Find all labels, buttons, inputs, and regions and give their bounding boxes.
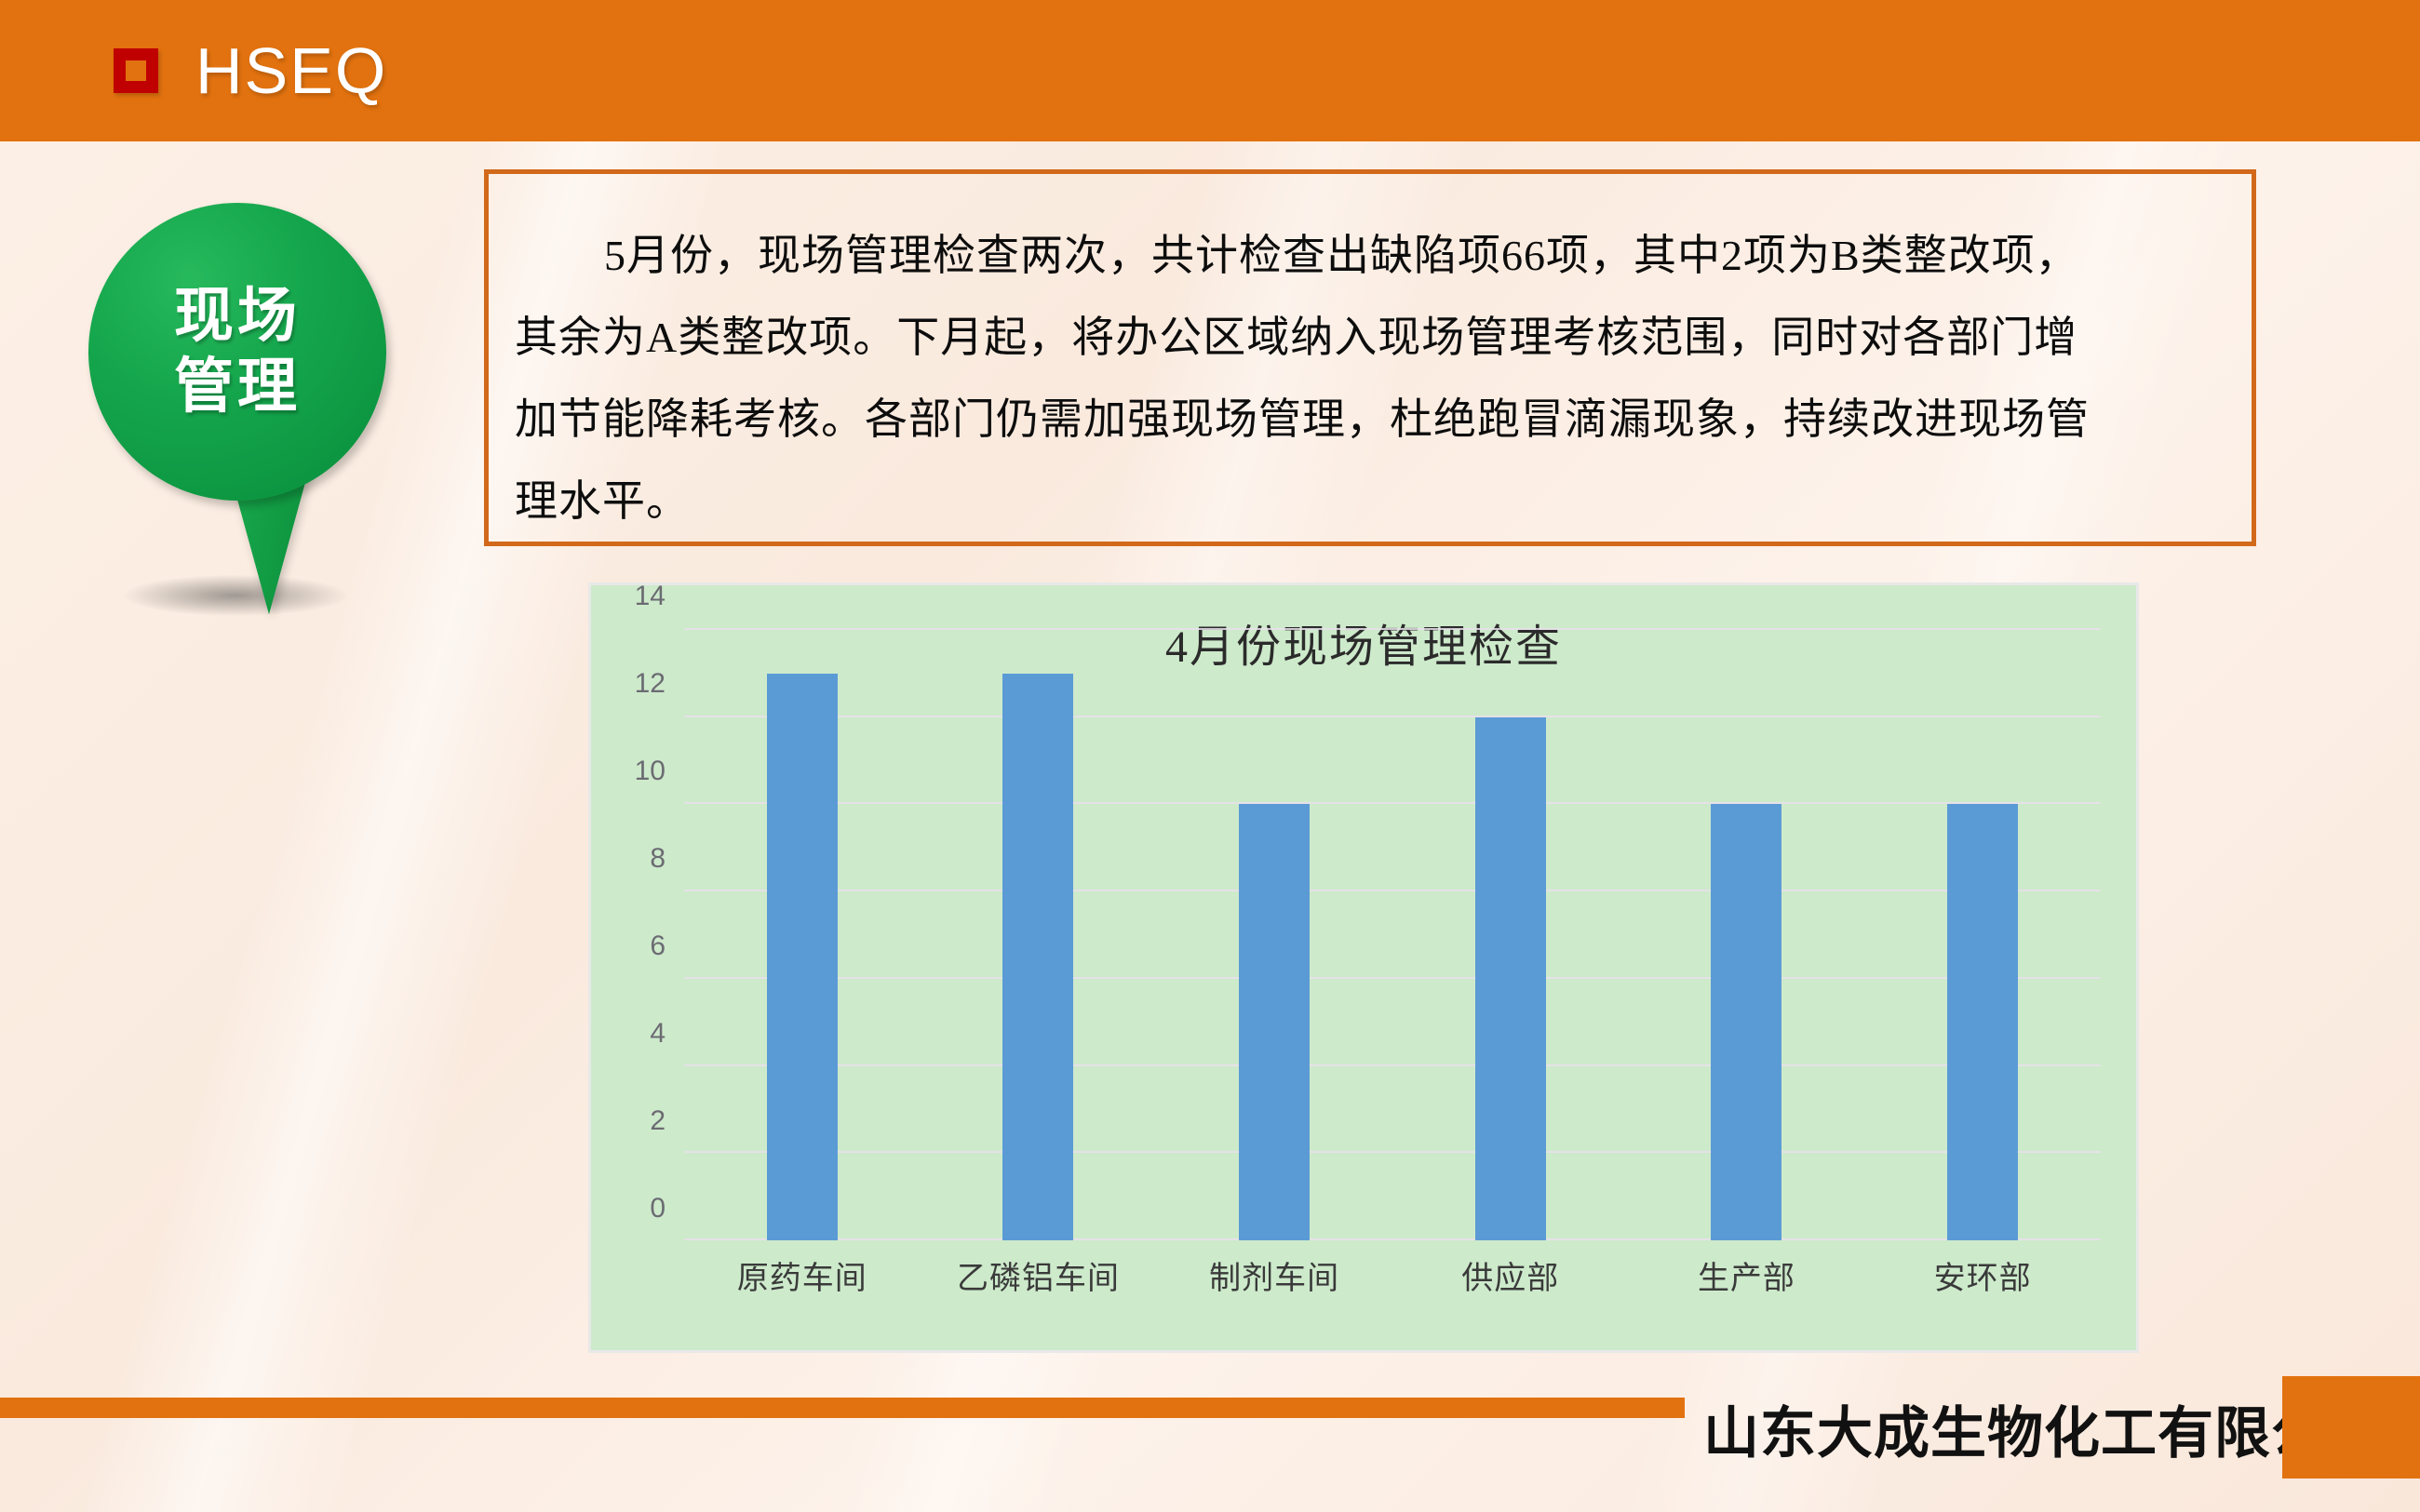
- chart-y-tick-label: 12: [635, 668, 665, 700]
- summary-textbox: 5月份，现场管理检查两次，共计检查出缺陷项66项，其中2项为B类整改项， 其余为…: [484, 169, 2256, 546]
- chart-bar[interactable]: [767, 674, 838, 1240]
- chart-bar-slot: [921, 630, 1156, 1240]
- chart-y-tick-label: 6: [650, 930, 665, 962]
- chart-y-tick-label: 14: [635, 581, 665, 612]
- square-outline-icon: [114, 48, 158, 93]
- pin-label-line-2: 管理: [174, 352, 301, 422]
- chart-bar[interactable]: [1711, 804, 1781, 1240]
- pin-circle: 现场 管理: [88, 203, 386, 501]
- chart-bars: [684, 630, 2101, 1240]
- footer-rule: [0, 1398, 1685, 1418]
- header-content: HSEQ: [114, 33, 387, 108]
- chart-y-tick-label: 0: [650, 1193, 665, 1224]
- page-title: HSEQ: [195, 33, 387, 108]
- section-pin-badge: 现场 管理: [88, 203, 423, 640]
- chart-bar[interactable]: [1475, 717, 1546, 1240]
- chart-bar[interactable]: [1239, 804, 1310, 1240]
- chart-bar-slot: [1865, 630, 2101, 1240]
- chart-x-tick-label: 安环部: [1865, 1252, 2101, 1298]
- chart-bar-slot: [685, 630, 921, 1240]
- chart-bar[interactable]: [1002, 674, 1073, 1240]
- chart-x-tick-label: 制剂车间: [1157, 1252, 1392, 1298]
- summary-line-2: 其余为A类整改项。下月起，将办公区域纳入现场管理考核范围，同时对各部门增: [515, 297, 2225, 379]
- summary-body: 5月份，现场管理检查两次，共计检查出缺陷项66项，其中2项为B类整改项， 其余为…: [489, 174, 2252, 542]
- chart-y-tick-label: 4: [650, 1018, 665, 1050]
- chart-x-axis-labels: 原药车间乙磷铝车间制剂车间供应部生产部安环部: [684, 1251, 2101, 1298]
- chart-panel: 4月份现场管理检查 02468101214 原药车间乙磷铝车间制剂车间供应部生产…: [588, 582, 2139, 1353]
- chart-x-tick-label: 供应部: [1392, 1252, 1628, 1298]
- chart-bar-slot: [1157, 630, 1392, 1240]
- chart-bar[interactable]: [1947, 804, 2018, 1240]
- page-header: HSEQ: [0, 0, 2420, 141]
- chart-y-tick-label: 2: [650, 1105, 665, 1137]
- chart-y-tick-label: 10: [635, 756, 665, 787]
- chart-y-tick-label: 8: [650, 843, 665, 875]
- footer-accent-block: [2282, 1376, 2420, 1479]
- chart-x-tick-label: 乙磷铝车间: [921, 1252, 1156, 1298]
- chart-bar-slot: [1392, 630, 1628, 1240]
- chart-bar-slot: [1629, 630, 1864, 1240]
- summary-line-3: 加节能降耗考核。各部门仍需加强现场管理，杜绝跑冒滴漏现象，持续改进现场管: [515, 379, 2225, 461]
- pin-label-line-1: 现场: [174, 281, 301, 352]
- summary-line-4: 理水平。: [515, 461, 2225, 542]
- chart-plot-area: 02468101214: [684, 630, 2101, 1240]
- summary-line-1: 5月份，现场管理检查两次，共计检查出缺陷项66项，其中2项为B类整改项，: [515, 215, 2225, 297]
- chart-x-tick-label: 生产部: [1629, 1252, 1864, 1298]
- footer-company-name: 山东大成生物化工有限公司: [1703, 1386, 2299, 1470]
- chart-x-tick-label: 原药车间: [685, 1252, 921, 1298]
